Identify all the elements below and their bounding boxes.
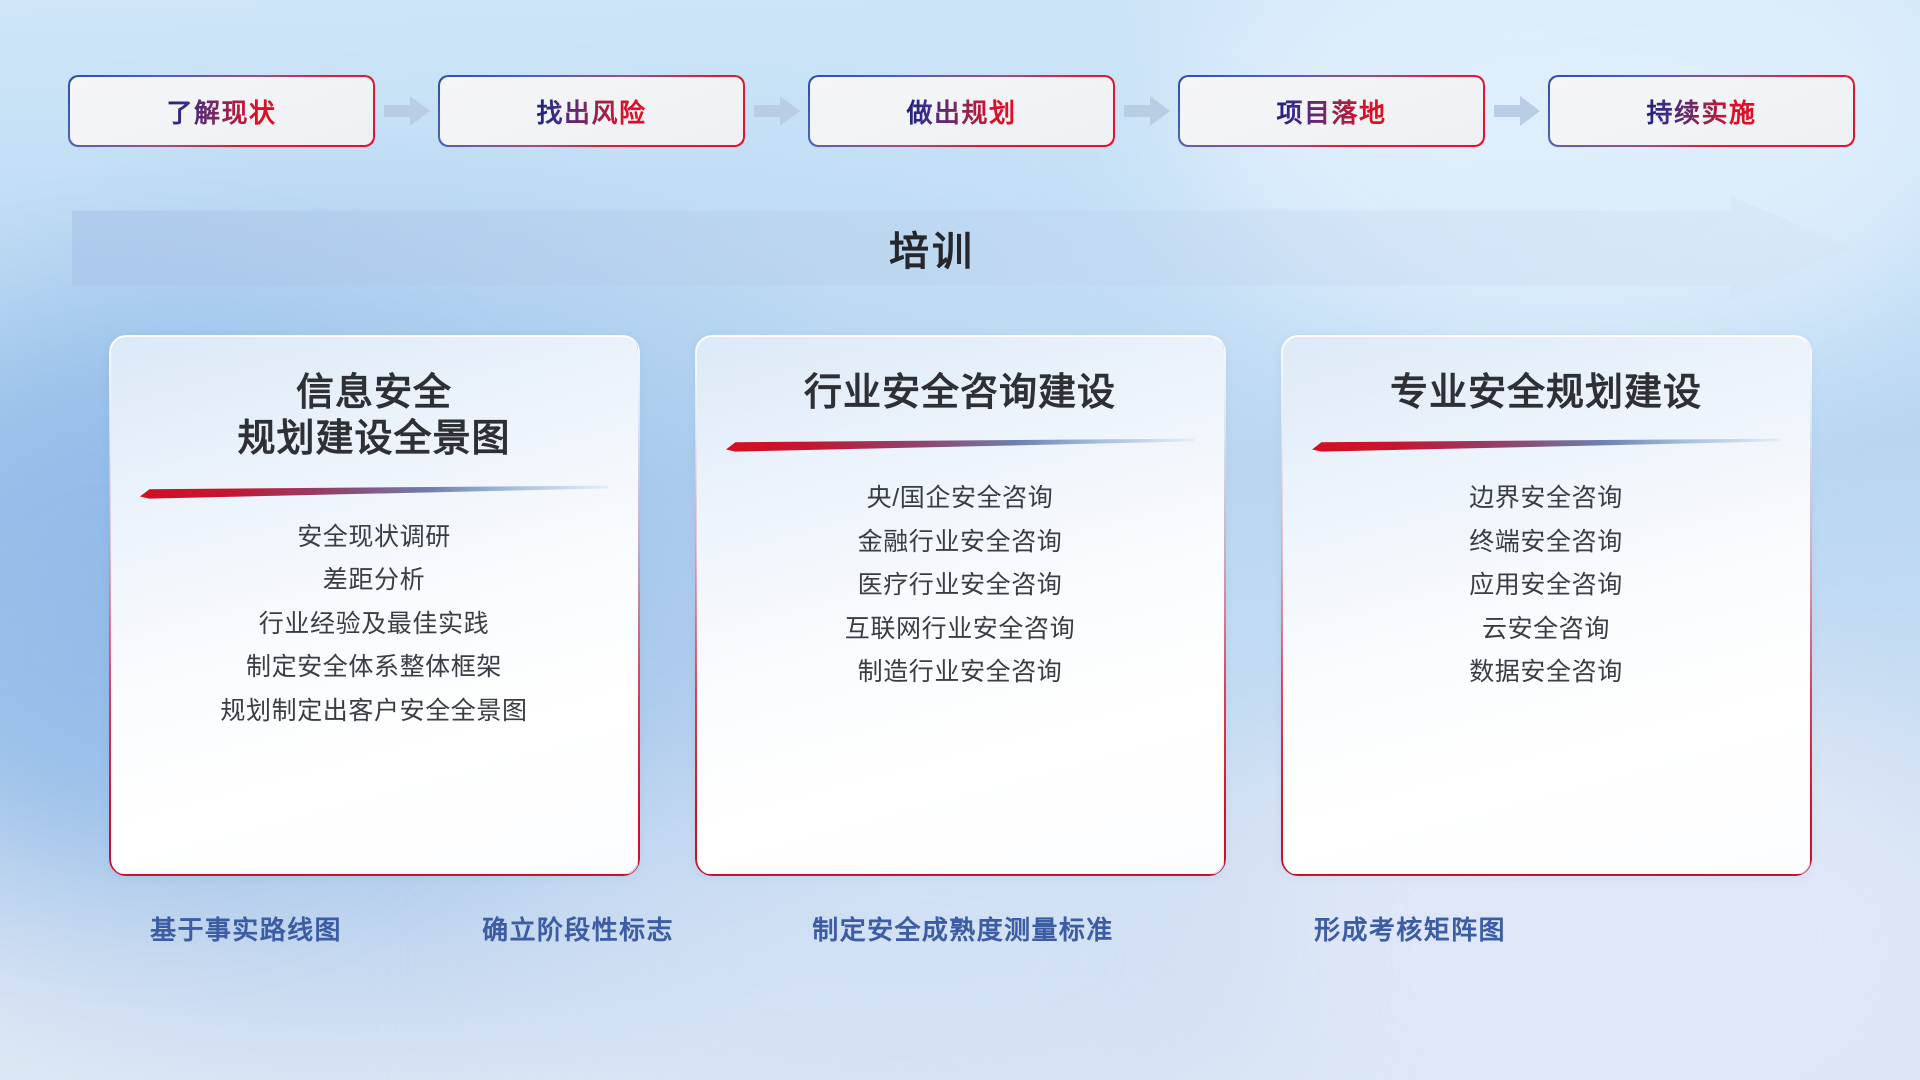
card-title: 信息安全 规划建设全景图 xyxy=(237,370,510,463)
card-title-line: 专业安全规划建设 xyxy=(1390,370,1702,416)
step-connector-arrow-icon-1 xyxy=(373,90,440,132)
card-list-item: 规划制定出客户安全全景图 xyxy=(220,695,527,728)
card-item-list: 央/国企安全咨询 金融行业安全咨询 医疗行业安全咨询 互联网行业安全咨询 制造行… xyxy=(726,482,1194,689)
card-list-item: 差距分析 xyxy=(323,564,425,597)
step-connector-arrow-icon-2 xyxy=(743,90,810,132)
card-title-line: 行业安全咨询建设 xyxy=(804,370,1116,416)
card-list-item: 金融行业安全咨询 xyxy=(858,526,1063,559)
process-step-1[interactable]: 了解现状 xyxy=(70,77,373,145)
outcome-label-2: 确立阶段性标志 xyxy=(482,910,674,947)
card-list-item: 制造行业安全咨询 xyxy=(858,656,1063,689)
card-divider-gradient-rule xyxy=(726,438,1194,452)
capability-card-1[interactable]: 信息安全 规划建设全景图 xyxy=(110,336,638,874)
process-step-3[interactable]: 做出规划 xyxy=(810,77,1113,145)
card-title-line: 规划建设全景图 xyxy=(237,416,510,462)
card-list-item: 互联网行业安全咨询 xyxy=(845,613,1075,646)
card-divider-gradient-rule xyxy=(1312,438,1780,452)
capability-card-row: 信息安全 规划建设全景图 xyxy=(110,336,1810,874)
card-list-item: 边界安全咨询 xyxy=(1469,482,1623,515)
capability-card-3[interactable]: 专业安全规划建设 xyxy=(1282,336,1810,874)
process-step-5[interactable]: 持续实施 xyxy=(1550,77,1853,145)
process-step-label: 找出风险 xyxy=(536,93,646,130)
card-list-item: 制定安全体系整体框架 xyxy=(246,651,502,684)
outcome-label-4: 形成考核矩阵图 xyxy=(1314,910,1506,947)
slide-canvas: 了解现状 找出风险 做出规划 项目落地 xyxy=(0,0,1920,1080)
card-item-list: 边界安全咨询 终端安全咨询 应用安全咨询 云安全咨询 数据安全咨询 xyxy=(1312,482,1780,689)
card-list-item: 行业经验及最佳实践 xyxy=(259,608,489,641)
process-step-label: 做出规划 xyxy=(906,93,1016,130)
card-divider-gradient-rule xyxy=(140,485,608,499)
step-connector-arrow-icon-3 xyxy=(1113,90,1180,132)
card-list-item: 央/国企安全咨询 xyxy=(867,482,1054,515)
card-item-list: 安全现状调研 差距分析 行业经验及最佳实践 制定安全体系整体框架 规划制定出客户… xyxy=(140,521,608,728)
card-title: 行业安全咨询建设 xyxy=(804,370,1116,416)
outcome-label-row: 基于事实路线图 确立阶段性标志 制定安全成熟度测量标准 形成考核矩阵图 xyxy=(0,910,1920,954)
card-list-item: 云安全咨询 xyxy=(1482,613,1610,646)
background-glow-top-right xyxy=(1180,0,1920,360)
banner-title: 培训 xyxy=(72,219,1852,277)
step-connector-arrow-icon-4 xyxy=(1483,90,1550,132)
process-step-label: 了解现状 xyxy=(166,93,276,130)
process-step-4[interactable]: 项目落地 xyxy=(1180,77,1483,145)
card-list-item: 医疗行业安全咨询 xyxy=(858,569,1063,602)
process-step-label: 项目落地 xyxy=(1276,93,1386,130)
card-list-item: 终端安全咨询 xyxy=(1469,526,1623,559)
process-step-label: 持续实施 xyxy=(1646,93,1756,130)
process-step-row: 了解现状 找出风险 做出规划 项目落地 xyxy=(70,76,1854,146)
outcome-label-3: 制定安全成熟度测量标准 xyxy=(812,910,1113,947)
card-list-item: 数据安全咨询 xyxy=(1469,656,1623,689)
capability-card-2[interactable]: 行业安全咨询建设 xyxy=(696,336,1224,874)
process-step-2[interactable]: 找出风险 xyxy=(440,77,743,145)
card-title: 专业安全规划建设 xyxy=(1390,370,1702,416)
card-list-item: 应用安全咨询 xyxy=(1469,569,1623,602)
outcome-label-1: 基于事实路线图 xyxy=(150,910,342,947)
training-banner-arrow: 培训 xyxy=(72,196,1852,300)
card-list-item: 安全现状调研 xyxy=(297,521,451,554)
card-title-line: 信息安全 xyxy=(237,370,510,416)
